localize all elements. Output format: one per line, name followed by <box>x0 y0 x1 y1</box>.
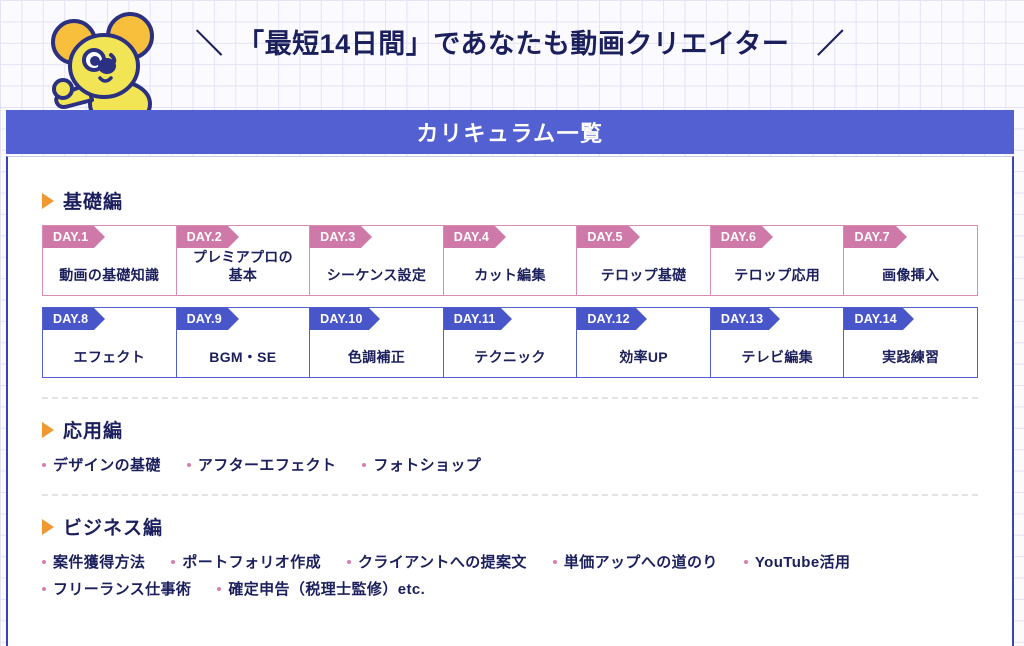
day-number-tag: DAY.1 <box>43 226 94 248</box>
day-topic-label: テロップ応用 <box>734 267 820 285</box>
section-heading-kiso: 基礎編 <box>42 187 978 214</box>
day-number-tag: DAY.12 <box>577 308 635 330</box>
day-card[interactable]: DAY.3シーケンス設定 <box>310 226 444 295</box>
list-item-label: クライアントへの提案文 <box>358 551 527 572</box>
day-card[interactable]: DAY.1動画の基礎知識 <box>43 226 177 295</box>
list-item[interactable]: フリーランス仕事術 <box>42 578 191 599</box>
list-item[interactable]: ポートフォリオ作成 <box>171 551 321 572</box>
list-item-label: デザインの基礎 <box>53 454 161 475</box>
triangle-bullet-icon <box>42 193 54 209</box>
dot-bullet-icon <box>744 560 748 564</box>
list-item-label: 単価アップへの道のり <box>564 551 718 572</box>
dot-bullet-icon <box>347 560 351 564</box>
day-topic-label: BGM・SE <box>209 349 276 367</box>
day-card[interactable]: DAY.12効率UP <box>577 308 711 377</box>
day-number-tag: DAY.11 <box>444 308 502 330</box>
day-card[interactable]: DAY.10色調補正 <box>310 308 444 377</box>
day-number-tag: DAY.13 <box>711 308 769 330</box>
day-card[interactable]: DAY.13テレビ編集 <box>711 308 845 377</box>
list-item-label: YouTube活用 <box>755 551 851 572</box>
list-item[interactable]: 単価アップへの道のり <box>553 551 718 572</box>
day-number-tag: DAY.3 <box>310 226 361 248</box>
list-item[interactable]: YouTube活用 <box>744 551 851 572</box>
list-item-label: フリーランス仕事術 <box>53 578 191 599</box>
list-item-label: フォトショップ <box>373 454 481 475</box>
day-card[interactable]: DAY.4カット編集 <box>444 226 578 295</box>
list-item-label: 確定申告（税理士監修）etc. <box>228 578 425 599</box>
list-item[interactable]: デザインの基礎 <box>42 454 161 475</box>
list-item-label: アフターエフェクト <box>198 454 337 475</box>
page-header: ＼ 「最短14日間」であなたも動画クリエイター ／ <box>0 0 1024 110</box>
curriculum-title-label: カリキュラム一覧 <box>416 116 603 148</box>
triangle-bullet-icon <box>42 422 54 438</box>
day-number-tag: DAY.6 <box>711 226 762 248</box>
dot-bullet-icon <box>553 560 557 564</box>
topic-bullet-row: 案件獲得方法ポートフォリオ作成クライアントへの提案文単価アップへの道のりYouT… <box>42 551 978 572</box>
list-item[interactable]: 案件獲得方法 <box>42 551 145 572</box>
day-topic-label: エフェクト <box>74 349 146 367</box>
dot-bullet-icon <box>187 463 191 467</box>
list-item[interactable]: フォトショップ <box>362 454 481 475</box>
day-number-tag: DAY.5 <box>577 226 628 248</box>
page-title: ＼ 「最短14日間」であなたも動画クリエイター ／ <box>180 22 860 61</box>
day-topic-label: 動画の基礎知識 <box>59 267 159 285</box>
day-number-tag: DAY.8 <box>43 308 94 330</box>
day-number-tag: DAY.14 <box>844 308 902 330</box>
day-topic-label: テロップ基礎 <box>601 267 687 285</box>
day-topic-label: テレビ編集 <box>741 349 813 367</box>
day-number-tag: DAY.7 <box>844 226 895 248</box>
curriculum-title-bar: カリキュラム一覧 <box>6 110 1014 154</box>
list-item-label: ポートフォリオ作成 <box>182 551 321 572</box>
list-item[interactable]: アフターエフェクト <box>187 454 337 475</box>
yellow-bear-mascot-icon <box>44 8 166 116</box>
day-topic-label: 実践練習 <box>882 349 939 367</box>
day-topic-label: シーケンス設定 <box>327 267 426 285</box>
section-divider <box>42 494 978 496</box>
topic-bullet-row: フリーランス仕事術確定申告（税理士監修）etc. <box>42 578 978 599</box>
section-title-label: ビジネス編 <box>63 513 163 540</box>
day-topic-label: テクニック <box>474 349 546 367</box>
day-number-tag: DAY.4 <box>444 226 495 248</box>
topic-bullet-row: デザインの基礎アフターエフェクトフォトショップ <box>42 454 978 475</box>
day-number-tag: DAY.10 <box>310 308 368 330</box>
day-topic-label: 画像挿入 <box>882 267 939 285</box>
day-card[interactable]: DAY.2プレミアプロの基本 <box>177 226 311 295</box>
section-title-label: 基礎編 <box>63 187 123 214</box>
day-number-tag: DAY.9 <box>177 308 228 330</box>
day-topic-label: カット編集 <box>474 267 546 285</box>
day-card[interactable]: DAY.7画像挿入 <box>844 226 977 295</box>
section-divider <box>42 397 978 399</box>
day-topic-label: プレミアプロの基本 <box>193 249 293 284</box>
section-heading-business: ビジネス編 <box>42 513 978 540</box>
day-topic-label: 色調補正 <box>348 349 405 367</box>
day-card[interactable]: DAY.11テクニック <box>444 308 578 377</box>
dot-bullet-icon <box>217 587 221 591</box>
day-card[interactable]: DAY.5テロップ基礎 <box>577 226 711 295</box>
day-card-row: DAY.8エフェクトDAY.9BGM・SEDAY.10色調補正DAY.11テクニ… <box>42 307 978 378</box>
dot-bullet-icon <box>42 587 46 591</box>
section-title-label: 応用編 <box>63 416 123 443</box>
section-heading-oyo: 応用編 <box>42 416 978 443</box>
day-number-tag: DAY.2 <box>177 226 228 248</box>
list-item[interactable]: 確定申告（税理士監修）etc. <box>217 578 425 599</box>
day-card-row: DAY.1動画の基礎知識DAY.2プレミアプロの基本DAY.3シーケンス設定DA… <box>42 225 978 296</box>
day-card[interactable]: DAY.8エフェクト <box>43 308 177 377</box>
day-topic-label: 効率UP <box>619 349 668 367</box>
triangle-bullet-icon <box>42 519 54 535</box>
day-card[interactable]: DAY.14実践練習 <box>844 308 977 377</box>
list-item[interactable]: クライアントへの提案文 <box>347 551 527 572</box>
dot-bullet-icon <box>42 463 46 467</box>
dot-bullet-icon <box>171 560 175 564</box>
dot-bullet-icon <box>42 560 46 564</box>
day-card[interactable]: DAY.9BGM・SE <box>177 308 311 377</box>
dot-bullet-icon <box>362 463 366 467</box>
day-card[interactable]: DAY.6テロップ応用 <box>711 226 845 295</box>
list-item-label: 案件獲得方法 <box>53 551 145 572</box>
curriculum-panel: 基礎編DAY.1動画の基礎知識DAY.2プレミアプロの基本DAY.3シーケンス設… <box>6 156 1014 646</box>
